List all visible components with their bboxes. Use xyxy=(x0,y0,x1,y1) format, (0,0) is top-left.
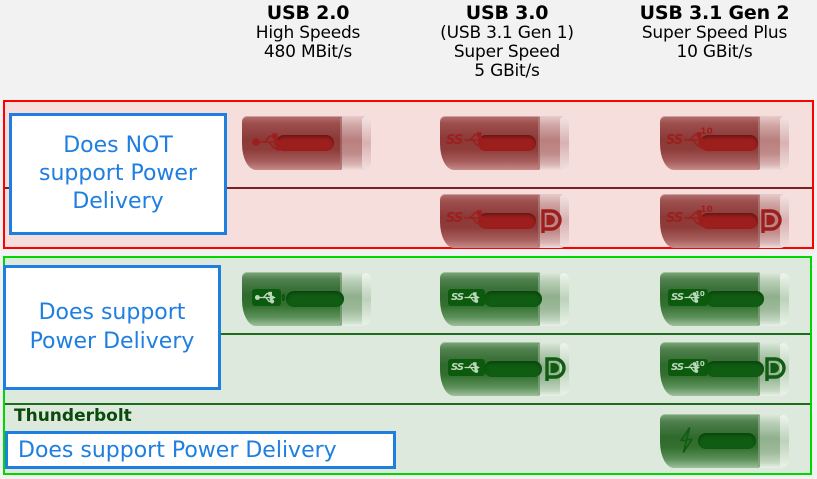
column-speed-rate: 10 GBit/s xyxy=(612,43,817,62)
connector-usb20-pd xyxy=(242,268,375,330)
superspeed-label: SS xyxy=(666,133,682,148)
usb-superspeed-trident-battery-icon: SS 10 xyxy=(668,359,708,376)
battery-badge: SS xyxy=(448,359,485,376)
battery-badge: SS 10 xyxy=(668,289,708,306)
connector-usb31gen2-pd-logo-no-pd-region: SS 10 xyxy=(660,190,793,252)
connector-usb31gen2-pd-logo: SS 10 xyxy=(660,338,793,400)
column-speed-rate: 5 GBit/s xyxy=(412,62,602,81)
column-speed-name: Super Speed Plus xyxy=(612,24,817,43)
connector-usb31gen2-no-pd: SS 10 xyxy=(660,112,793,174)
connector-usb30-pd-logo: SS xyxy=(440,338,573,400)
usb-trident-battery-icon xyxy=(252,289,281,306)
callout-line: Delivery xyxy=(72,188,163,216)
superspeed-label: SS xyxy=(446,133,462,148)
usb-superspeed-trident-battery-icon: SS xyxy=(448,289,485,306)
battery-badge: SS 10 xyxy=(668,359,708,376)
usb-superspeed-trident-battery-icon: SS 10 xyxy=(668,289,708,306)
usb-superspeed-trident-battery-icon: SS xyxy=(448,359,485,376)
usb-superspeed-trident-icon: SS xyxy=(446,208,489,228)
power-delivery-icon xyxy=(760,209,782,239)
callout-line: Power Delivery xyxy=(30,328,195,356)
column-header-usb20: USB 2.0 High Speeds 480 MBit/s xyxy=(215,0,401,62)
callout-line: Does NOT xyxy=(63,132,173,160)
column-subtitle: (USB 3.1 Gen 1) xyxy=(412,24,602,43)
column-header-usb31gen2: USB 3.1 Gen 2 Super Speed Plus 10 GBit/s xyxy=(612,0,817,62)
superspeed-label: SS xyxy=(451,362,463,373)
thunderbolt-bolt-icon xyxy=(678,427,696,453)
row-divider xyxy=(5,403,810,405)
usb-superspeed-trident-icon: SS 10 xyxy=(666,208,713,228)
connector-usb20-no-pd xyxy=(242,112,375,174)
usb-trident-icon xyxy=(252,132,286,152)
superspeed-label: SS xyxy=(451,292,463,303)
connector-usb30-no-pd: SS xyxy=(440,112,573,174)
column-speed-rate: 480 MBit/s xyxy=(215,43,401,62)
superspeed-label: SS xyxy=(671,292,683,303)
superspeed-label: SS xyxy=(446,211,462,226)
callout-line: support Power xyxy=(39,160,197,188)
callout-thunderbolt-power-delivery: Does support Power Delivery xyxy=(5,431,396,469)
connector-usb30-pd-logo-no-pd-region: SS xyxy=(440,190,573,252)
speed-superscript: 10 xyxy=(695,360,705,368)
column-title: USB 3.1 Gen 2 xyxy=(612,3,817,24)
column-title: USB 3.0 xyxy=(412,3,602,24)
speed-superscript: 10 xyxy=(695,290,705,298)
usb-superspeed-trident-icon: SS xyxy=(446,130,489,150)
superspeed-label: SS xyxy=(671,362,683,373)
column-speed-name: High Speeds xyxy=(215,24,401,43)
superspeed-label: SS xyxy=(666,211,682,226)
callout-does-not-support-power-delivery: Does NOT support Power Delivery xyxy=(9,113,227,235)
callout-line: Does support xyxy=(39,299,186,327)
connector-usb30-pd: SS xyxy=(440,268,573,330)
speed-superscript: 10 xyxy=(700,205,713,215)
battery-badge: SS xyxy=(448,289,485,306)
power-delivery-icon xyxy=(540,209,562,239)
column-speed-name: Super Speed xyxy=(412,43,602,62)
callout-line: Does support Power Delivery xyxy=(18,437,337,465)
speed-superscript: 10 xyxy=(700,127,713,137)
power-delivery-icon xyxy=(764,357,786,387)
thunderbolt-title: Thunderbolt xyxy=(14,406,132,426)
column-title: USB 2.0 xyxy=(215,3,401,24)
diagram-canvas: USB 2.0 High Speeds 480 MBit/s USB 3.0 (… xyxy=(0,0,817,479)
connector-thunderbolt xyxy=(660,410,793,472)
usb-superspeed-trident-icon: SS 10 xyxy=(666,130,713,150)
power-delivery-icon xyxy=(544,357,566,387)
column-header-usb30: USB 3.0 (USB 3.1 Gen 1) Super Speed 5 GB… xyxy=(412,0,602,81)
connector-usb31gen2-pd: SS 10 xyxy=(660,268,793,330)
callout-does-support-power-delivery: Does support Power Delivery xyxy=(3,265,221,390)
battery-badge xyxy=(252,289,281,306)
